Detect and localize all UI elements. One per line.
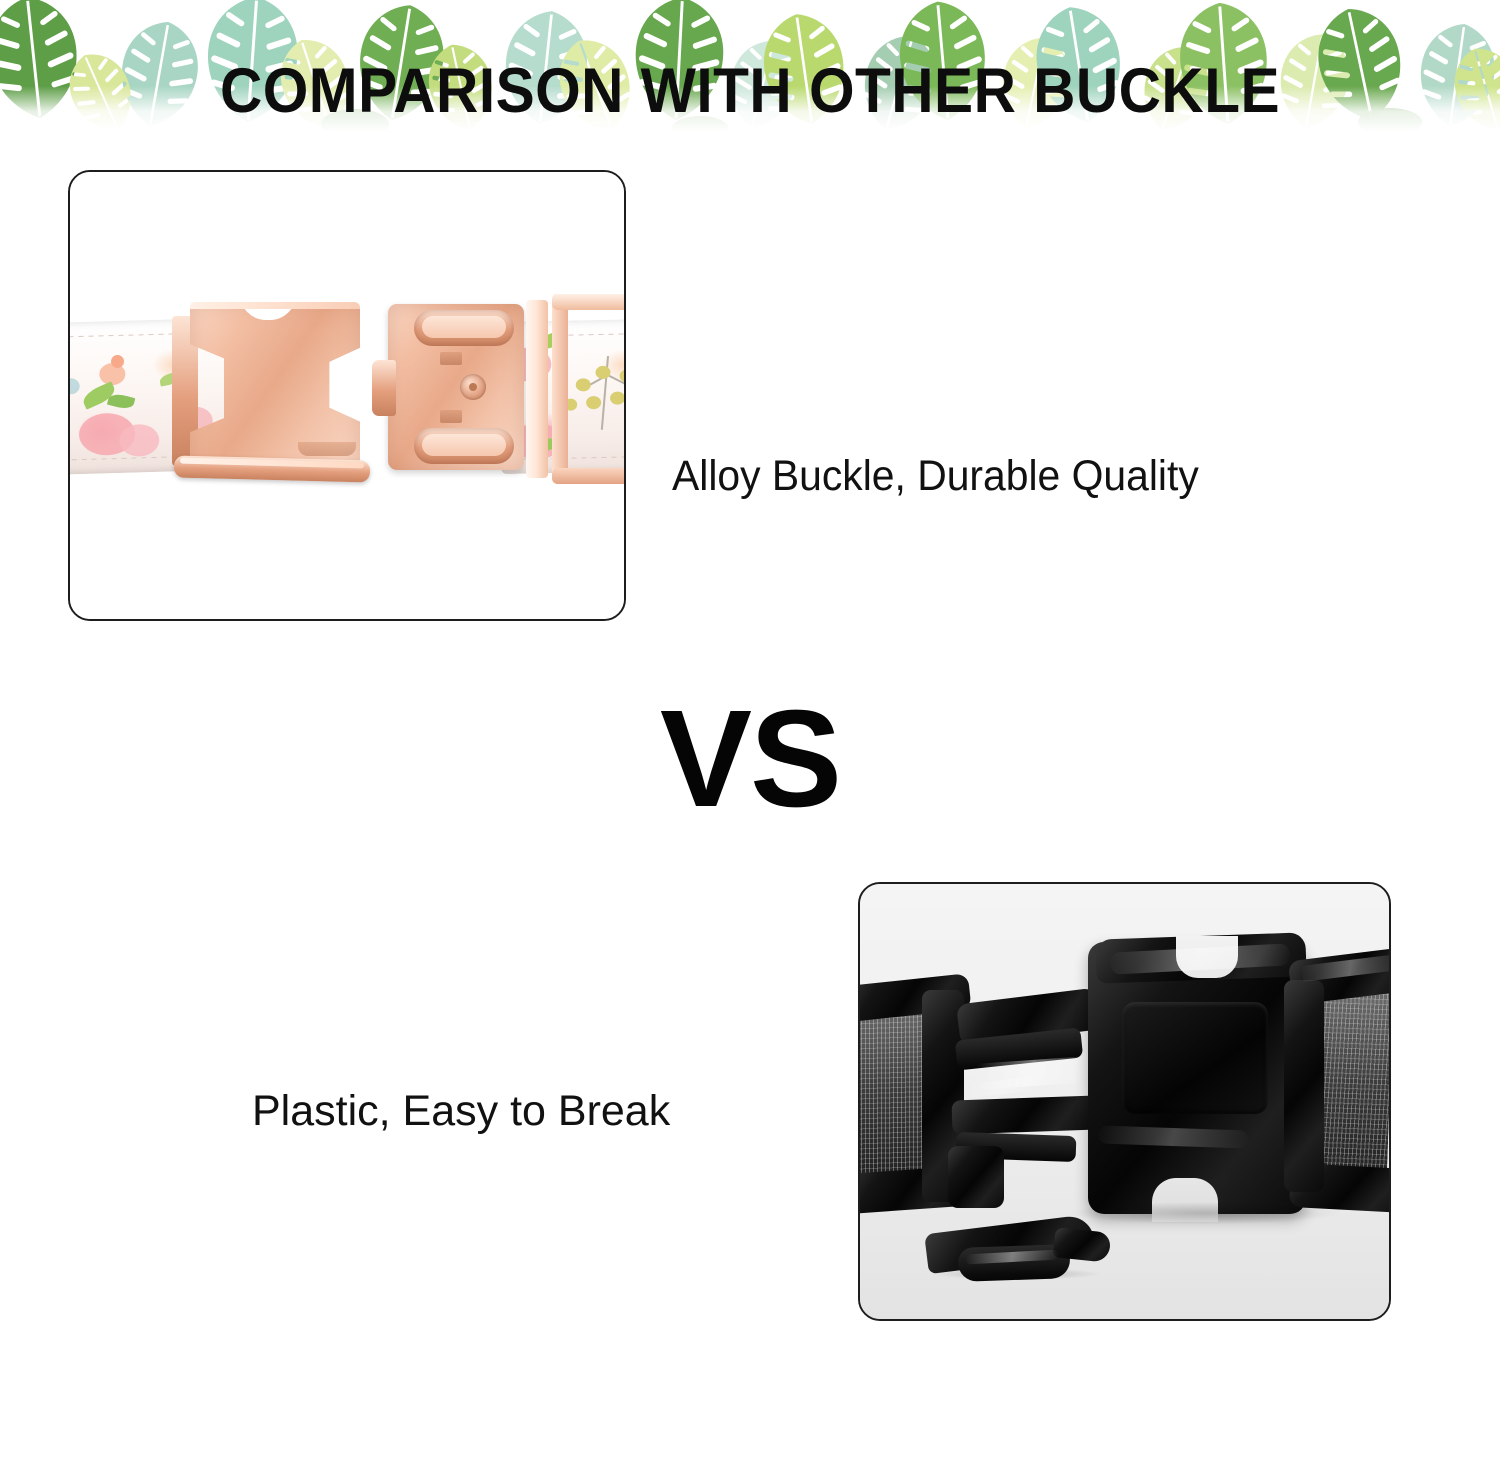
page-title: COMPARISON WITH OTHER BUCKLE xyxy=(53,60,1448,122)
alloy-buckle-label: Alloy Buckle, Durable Quality xyxy=(672,452,1199,501)
alloy-buckle-female-half xyxy=(370,282,626,510)
plastic-buckle-label: Plastic, Easy to Break xyxy=(252,1087,670,1136)
plastic-buckle-photo xyxy=(858,882,1391,1321)
alloy-scene xyxy=(70,172,624,619)
broken-plastic-tab xyxy=(922,1220,1118,1284)
alloy-buckle-male-half xyxy=(162,290,384,502)
plastic-scene xyxy=(860,884,1389,1319)
versus-label: VS xyxy=(0,690,1500,828)
alloy-buckle-photo xyxy=(68,170,626,621)
